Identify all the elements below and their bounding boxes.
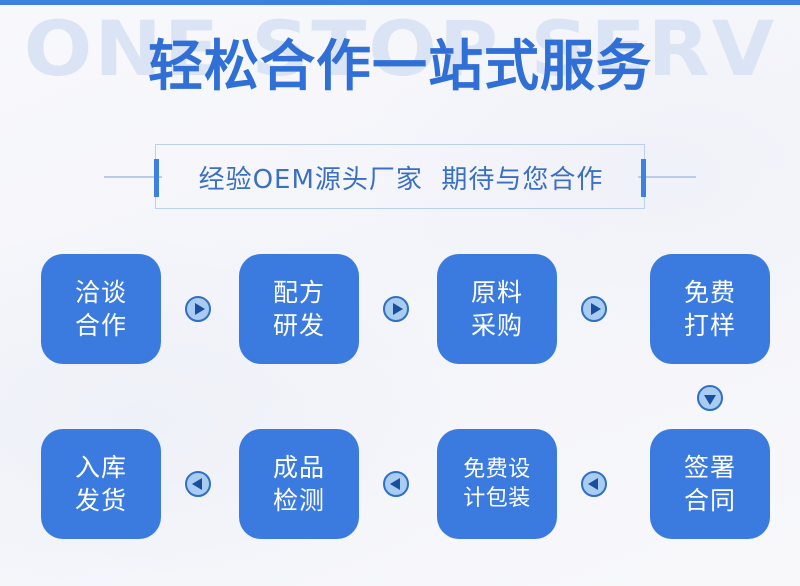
node-sign-contract[interactable]: 签署 合同 xyxy=(650,429,770,539)
arrow-left-icon xyxy=(581,471,607,497)
node-label-line2: 合作 xyxy=(75,309,127,342)
arrow-left-glyph xyxy=(192,478,202,490)
arrow-left-icon xyxy=(185,471,211,497)
arrow-right-glyph xyxy=(591,303,601,315)
header: ONE STOP SERV 轻松合作一站式服务 xyxy=(0,5,800,130)
subtitle-text: 经验OEM源头厂家 期待与您合作 xyxy=(156,145,646,210)
node-label-line1: 原料 xyxy=(471,276,523,309)
node-label-line2: 打样 xyxy=(684,309,736,342)
node-label-line1: 免费 xyxy=(684,276,736,309)
node-label-line1: 免费设 xyxy=(463,455,531,484)
subtitle-box: 经验OEM源头厂家 期待与您合作 xyxy=(155,144,645,209)
arrow-down-icon xyxy=(697,385,723,411)
arrow-right-icon xyxy=(581,296,607,322)
subtitle-rule-right xyxy=(638,176,696,178)
node-label-line1: 洽谈 xyxy=(75,276,127,309)
node-label-line2: 检测 xyxy=(273,484,325,517)
arrow-right-glyph xyxy=(195,303,205,315)
node-formula-rnd[interactable]: 配方 研发 xyxy=(239,254,359,364)
arrow-down-glyph xyxy=(704,395,716,405)
arrow-left-icon xyxy=(383,471,409,497)
node-label-line1: 签署 xyxy=(684,451,736,484)
node-free-sampling[interactable]: 免费 打样 xyxy=(650,254,770,364)
node-label-line2: 研发 xyxy=(273,309,325,342)
node-label-line2: 计包装 xyxy=(463,484,531,513)
node-raw-material-purchase[interactable]: 原料 采购 xyxy=(437,254,557,364)
node-finished-inspection[interactable]: 成品 检测 xyxy=(239,429,359,539)
page-title: 轻松合作一站式服务 xyxy=(0,39,800,94)
node-negotiate-cooperation[interactable]: 洽谈 合作 xyxy=(41,254,161,364)
subtitle-band: 经验OEM源头厂家 期待与您合作 xyxy=(0,142,800,212)
arrow-right-glyph xyxy=(393,303,403,315)
node-label-line1: 配方 xyxy=(273,276,325,309)
one-stop-service-banner: ONE STOP SERV 轻松合作一站式服务 经验OEM源头厂家 期待与您合作… xyxy=(0,0,800,586)
process-row-2: 入库 发货 成品 检测 免费设 计包装 签署 合同 xyxy=(0,429,800,539)
node-label-line1: 成品 xyxy=(273,451,325,484)
node-label-line2: 合同 xyxy=(684,484,736,517)
node-label-line2: 采购 xyxy=(471,309,523,342)
arrow-left-glyph xyxy=(588,478,598,490)
node-label-line1: 入库 xyxy=(75,451,127,484)
arrow-right-icon xyxy=(383,296,409,322)
node-label-line2: 发货 xyxy=(75,484,127,517)
node-warehouse-shipping[interactable]: 入库 发货 xyxy=(41,429,161,539)
node-free-design-packaging[interactable]: 免费设 计包装 xyxy=(437,429,557,539)
arrow-right-icon xyxy=(185,296,211,322)
arrow-left-glyph xyxy=(390,478,400,490)
process-row-1: 洽谈 合作 配方 研发 原料 采购 免费 打样 xyxy=(0,254,800,364)
